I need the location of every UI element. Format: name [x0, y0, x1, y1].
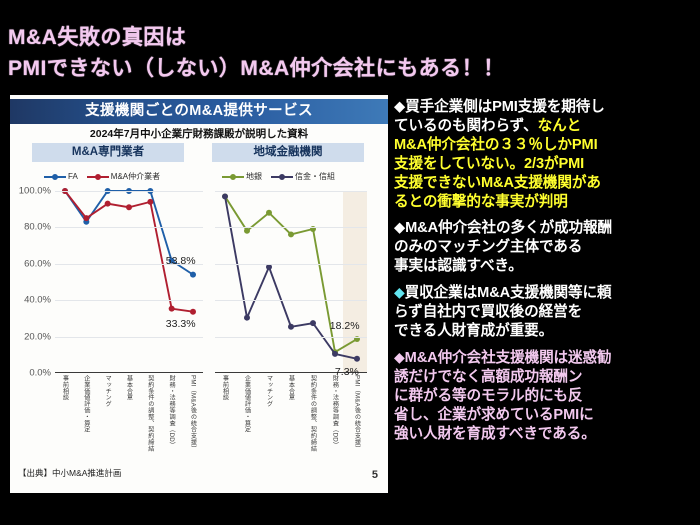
data-point: [147, 199, 153, 205]
x-axis-label: マッチング: [265, 375, 274, 407]
page-number: 5: [372, 469, 378, 481]
bullet-text: 省し、企業が求めているPMIに: [394, 407, 594, 423]
bullet-text: らず自社内で買収後の経営を: [394, 304, 582, 320]
bullet-text: できる人財育成が重要。: [394, 323, 553, 339]
bullet-line: ◆買収企業はM&A支援機関等に頼: [394, 283, 696, 303]
group-label-right: 地域金融機関: [212, 143, 364, 162]
gridline: [55, 300, 203, 301]
bullet-line: るとの衝撃的な事実が判明: [394, 193, 696, 212]
chart-right-series: [215, 191, 367, 372]
bullet-line: ているのも関わらず、なんと: [394, 117, 696, 136]
bullet-line: 強い人財を育成すべきである。: [394, 425, 696, 444]
data-point: [288, 231, 294, 237]
data-point: [190, 309, 196, 315]
data-point: [244, 228, 250, 234]
y-axis-tick: 100.0%: [19, 186, 51, 197]
panel-banner: 支援機関ごとのM&A提供サービス: [10, 99, 388, 124]
legend-row: FA M&A仲介業者 地銀: [10, 171, 388, 187]
x-axis-label: PMI（M&A後の統合支援）: [189, 375, 198, 452]
bullet-text: 買収企業はM&A支援機関等に頼: [405, 285, 612, 301]
legend-item-chigin: 地銀: [222, 171, 262, 182]
bullet-line: らず自社内で買収後の経営を: [394, 303, 696, 322]
legend-item-fa: FA: [44, 172, 78, 181]
y-axis-tick: 60.0%: [24, 258, 51, 269]
bullet-list: ◆買手企業側はPMI支援を期待しているのも関わらず、なんとM&A仲介会社の３３％…: [394, 98, 696, 450]
bullet-line: 支援をしていない。2/3がPMI: [394, 155, 696, 174]
bullet-line: ◆M&A仲介会社の多くが成功報酬: [394, 219, 696, 238]
legend-group-right: 地銀 信金・信組: [222, 171, 335, 182]
bullet-item: ◆M&A仲介会社の多くが成功報酬のみのマッチング主体である事実は認識すべき。: [394, 219, 696, 276]
bullet-text: 支援をしていない。2/3がPMI: [394, 156, 584, 172]
gridline: [215, 337, 367, 338]
bullet-text: M&A仲介会社支援機関は迷惑勧: [405, 350, 612, 366]
bullet-text: 支援できないM&A支援機関があ: [394, 175, 601, 191]
chart-left-plot-area: 53.8%33.3%: [55, 191, 203, 373]
bullet-item: ◆買収企業はM&A支援機関等に頼らず自社内で買収後の経営をできる人財育成が重要。: [394, 283, 696, 341]
data-point: [105, 201, 111, 207]
data-point: [288, 324, 294, 330]
bullet-line: 事実は認識すべき。: [394, 257, 696, 276]
legend-label-shinkin: 信金・信組: [295, 171, 335, 182]
bullet-line: 誘だけでなく高額成功報酬ン: [394, 368, 696, 387]
data-point: [169, 306, 175, 312]
gridline: [215, 264, 367, 265]
gridline: [215, 300, 367, 301]
bullet-text: ◆M&A仲介会社の多くが成功報酬: [394, 220, 612, 236]
y-axis-tick: 0.0%: [29, 368, 51, 379]
bullet-text: 事実は認識すべき。: [394, 258, 523, 274]
data-point: [310, 320, 316, 326]
gridline: [55, 191, 203, 192]
legend-item-shinkin: 信金・信組: [271, 171, 335, 182]
bullet-text: るとの衝撃的な事実が判明: [394, 194, 568, 210]
x-axis-label: 事前相談: [220, 375, 229, 401]
title-line-2: PMIできない（しない）M&A仲介会社にもある！！: [8, 53, 692, 84]
bullet-line: 支援できないM&A支援機関があ: [394, 174, 696, 193]
x-axis-label: 財務・法務等調査（DD）: [330, 375, 339, 448]
data-point: [83, 215, 89, 221]
legend-label-chigin: 地銀: [246, 171, 262, 182]
bullet-marker: ◆: [394, 349, 405, 365]
x-axis-label: マッチング: [103, 375, 112, 407]
bullet-item: ◆買手企業側はPMI支援を期待しているのも関わらず、なんとM&A仲介会社の３３％…: [394, 98, 696, 212]
source-citation: 【出典】中小M&A推進計画: [18, 467, 121, 479]
legend-item-chukai: M&A仲介業者: [87, 171, 160, 182]
legend-swatch-shinkin: [271, 172, 293, 181]
group-label-left: M&A専門業者: [32, 143, 184, 162]
bullet-text: M&A仲介会社の３３％しかPMI: [394, 137, 598, 153]
chart-left-x-labels: 事前相談企業価値評価・算定マッチング基本合意契約条件の調整、契約締結財務・法務等…: [55, 375, 203, 470]
x-axis-label: 企業価値評価・算定: [243, 375, 252, 433]
data-label: 33.3%: [166, 318, 196, 330]
legend-label-fa: FA: [68, 172, 78, 181]
title-line-1: M&A失敗の真因は: [8, 22, 692, 53]
gridline: [215, 227, 367, 228]
x-axis-label: 財務・法務等調査（DD）: [167, 375, 176, 448]
x-axis-label: 契約条件の調整、契約締結: [309, 375, 318, 452]
y-axis-tick: 80.0%: [24, 222, 51, 233]
bullet-text: ているのも関わらず、: [394, 118, 538, 134]
bullet-text: のみのマッチング主体である: [394, 239, 582, 255]
bullet-line: のみのマッチング主体である: [394, 238, 696, 257]
data-point: [244, 315, 250, 321]
data-point: [354, 356, 360, 362]
bullet-marker: ◆: [394, 284, 405, 300]
y-axis: 0.0%20.0%40.0%60.0%80.0%100.0%: [10, 191, 54, 373]
chart-left-series: [55, 191, 203, 372]
data-label: 18.2%: [330, 320, 360, 332]
bullet-item: ◆M&A仲介会社支援機関は迷惑勧誘だけでなく高額成功報酬ンに群がる等のモラル的に…: [394, 348, 696, 444]
chart-right-x-labels: 事前相談企業価値評価・算定マッチング基本合意契約条件の調整、契約締結財務・法務等…: [215, 375, 367, 470]
panel-subtitle: 2024年7月中小企業庁財務課殿が説明した資料: [10, 126, 388, 141]
bullet-text: 強い人財を育成すべきである。: [394, 426, 596, 442]
x-axis-label: 基本合意: [125, 375, 134, 401]
bullet-line: ◆買手企業側はPMI支援を期待し: [394, 98, 696, 117]
chart-right-plot-area: 18.2%7.3%: [215, 191, 367, 373]
bullet-line: M&A仲介会社の３３％しかPMI: [394, 136, 696, 155]
y-axis-tick: 40.0%: [24, 295, 51, 306]
bullet-text: ◆買手企業側はPMI支援を期待し: [394, 99, 605, 115]
chart-panel: 支援機関ごとのM&A提供サービス 2024年7月中小企業庁財務課殿が説明した資料…: [10, 95, 388, 493]
bullet-line: に群がる等のモラル的にも反: [394, 387, 696, 406]
bullet-line: 省し、企業が求めているPMIに: [394, 406, 696, 425]
data-label: 53.8%: [166, 255, 196, 267]
page-title: M&A失敗の真因は PMIできない（しない）M&A仲介会社にもある！！: [8, 22, 692, 84]
group-bands: M&A専門業者 地域金融機関: [10, 143, 388, 162]
series-line: [225, 196, 357, 358]
legend-swatch-chukai: [87, 172, 109, 181]
gridline: [55, 337, 203, 338]
gridline: [55, 227, 203, 228]
data-point: [332, 351, 338, 357]
bullet-line: ◆M&A仲介会社支援機関は迷惑勧: [394, 348, 696, 368]
gridline: [215, 191, 367, 192]
legend-swatch-fa: [44, 172, 66, 181]
bullet-line: できる人財育成が重要。: [394, 322, 696, 341]
legend-swatch-chigin: [222, 172, 244, 181]
x-axis-label: 契約条件の調整、契約締結: [146, 375, 155, 452]
data-point: [190, 272, 196, 278]
x-axis-label: 事前相談: [61, 375, 70, 401]
x-axis-label: PMI（M&A後の統合支援）: [353, 375, 362, 452]
data-point: [266, 264, 272, 270]
x-axis-label: 基本合意: [287, 375, 296, 401]
bullet-text: に群がる等のモラル的にも反: [394, 388, 582, 404]
legend-label-chukai: M&A仲介業者: [111, 171, 160, 182]
bullet-text-emphasis: なんと: [538, 118, 581, 134]
panel-banner-title: 支援機関ごとのM&A提供サービス: [10, 99, 388, 124]
data-point: [126, 204, 132, 210]
slide-root: M&A失敗の真因は PMIできない（しない）M&A仲介会社にもある！！ 支援機関…: [0, 0, 700, 525]
y-axis-tick: 20.0%: [24, 331, 51, 342]
x-axis-label: 企業価値評価・算定: [82, 375, 91, 433]
legend-group-left: FA M&A仲介業者: [44, 171, 160, 182]
data-point: [266, 210, 272, 216]
data-point: [222, 193, 228, 199]
bullet-text: 誘だけでなく高額成功報酬ン: [394, 369, 582, 385]
